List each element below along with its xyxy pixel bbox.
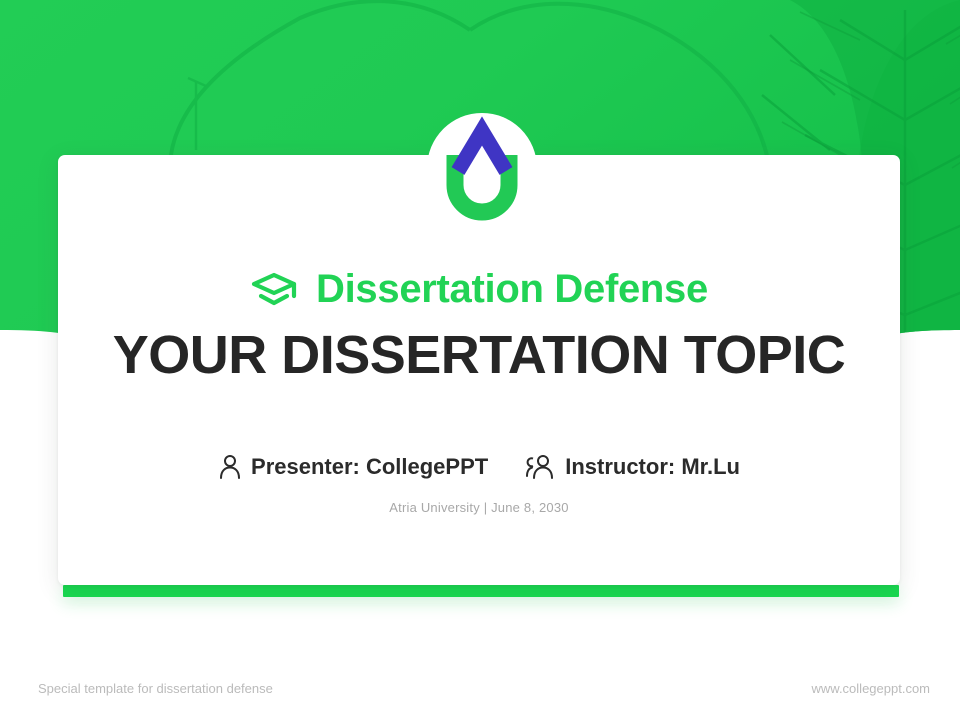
card-content: Dissertation Defense YOUR DISSERTATION T… [58,155,900,585]
presenter-block: Presenter: CollegePPT [218,454,488,480]
person-icon [218,454,242,480]
presentation-slide: Dissertation Defense YOUR DISSERTATION T… [0,0,960,720]
instructor-block: Instructor: Mr.Lu [524,454,740,480]
credits-row: Presenter: CollegePPT Instructor: Mr.Lu [218,454,740,480]
instructor-label: Instructor: Mr.Lu [565,454,740,480]
people-group-icon [524,454,556,480]
footer-website[interactable]: www.collegeppt.com [812,681,931,696]
card-accent-bar [63,585,899,597]
presenter-label: Presenter: CollegePPT [251,454,488,480]
eyebrow-label: Dissertation Defense [316,267,708,312]
footer-note: Special template for dissertation defens… [38,681,273,696]
meta-line: Atria University | June 8, 2030 [389,500,568,515]
graduation-cap-icon [250,270,298,310]
page-title: YOUR DISSERTATION TOPIC [113,324,846,386]
eyebrow-row: Dissertation Defense [250,267,708,312]
